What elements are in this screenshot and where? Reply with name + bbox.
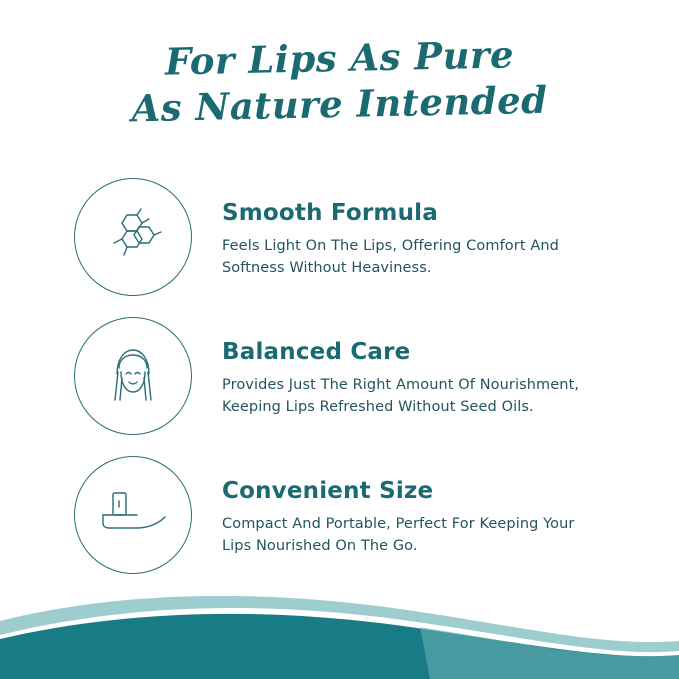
feature-description: Compact And Portable, Perfect For Keepin… — [222, 513, 642, 557]
feature-description-line-2: Keeping Lips Refreshed Without Seed Oils… — [222, 396, 642, 418]
feature-description-line-2: Lips Nourished On The Go. — [222, 535, 642, 557]
feature-icon-circle — [74, 317, 192, 435]
feature-description: Feels Light On The Lips, Offering Comfor… — [222, 235, 642, 279]
feature-item-balanced-care: Balanced Care Provides Just The Right Am… — [0, 317, 679, 456]
feature-text-block: Smooth Formula Feels Light On The Lips, … — [222, 200, 642, 279]
feature-description-line-1: Provides Just The Right Amount Of Nouris… — [222, 374, 642, 396]
feature-icon-circle — [74, 456, 192, 574]
feature-icon-circle — [74, 178, 192, 296]
decorative-wave — [0, 569, 679, 679]
infographic-page: For Lips As Pure As Nature Intended — [0, 0, 679, 679]
feature-title: Smooth Formula — [222, 200, 642, 226]
feature-list: Smooth Formula Feels Light On The Lips, … — [0, 178, 679, 595]
feature-description-line-2: Softness Without Heaviness. — [222, 257, 642, 279]
feature-text-block: Convenient Size Compact And Portable, Pe… — [222, 478, 642, 557]
feature-title: Convenient Size — [222, 478, 642, 504]
feature-text-block: Balanced Care Provides Just The Right Am… — [222, 339, 642, 418]
feature-description-line-1: Feels Light On The Lips, Offering Comfor… — [222, 235, 642, 257]
feature-description-line-1: Compact And Portable, Perfect For Keepin… — [222, 513, 642, 535]
feature-description: Provides Just The Right Amount Of Nouris… — [222, 374, 642, 418]
feature-title: Balanced Care — [222, 339, 642, 365]
feature-item-smooth-formula: Smooth Formula Feels Light On The Lips, … — [0, 178, 679, 317]
page-title: For Lips As Pure As Nature Intended — [0, 36, 679, 126]
